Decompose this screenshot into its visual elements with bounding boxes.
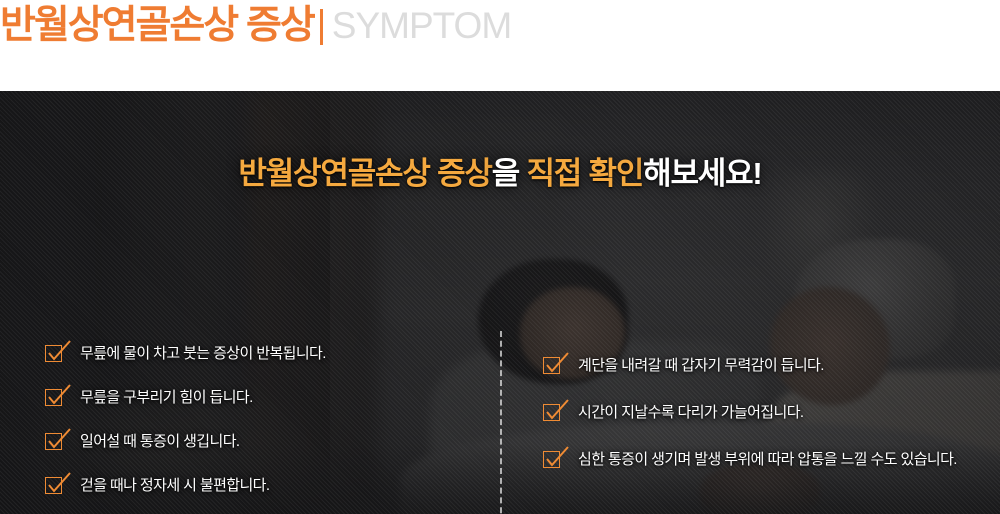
symptom-item-label: 무릎을 구부리기 힘이 듭니다.	[80, 387, 253, 408]
page-title: 반월상연골손상 증상	[0, 3, 314, 49]
hero-headline: 반월상연골손상 증상을 직접 확인해보세요!	[0, 148, 1000, 193]
symptom-item: 일어설 때 통증이 생깁니다.	[45, 431, 475, 452]
check-icon	[45, 477, 62, 494]
page-subtitle: SYMPTOM	[332, 3, 511, 49]
hero-banner: 반월상연골손상 증상을 직접 확인해보세요! 무릎에 물이 차고 붓는 증상이 …	[0, 91, 1000, 514]
symptom-item: 시간이 지날수록 다리가 가늘어집니다.	[543, 402, 963, 423]
header-title-group: 반월상연골손상 증상 SYMPTOM	[0, 3, 511, 49]
check-icon	[45, 345, 62, 362]
symptom-list-left: 무릎에 물이 차고 붓는 증상이 반복됩니다. 무릎을 구부리기 힘이 듭니다.…	[45, 343, 475, 514]
symptom-item: 무릎을 구부리기 힘이 듭니다.	[45, 387, 475, 408]
headline-part-3: 직접 확인	[526, 156, 643, 191]
symptom-item-label: 무릎에 물이 차고 붓는 증상이 반복됩니다.	[80, 343, 326, 364]
hero-content: 반월상연골손상 증상을 직접 확인해보세요! 무릎에 물이 차고 붓는 증상이 …	[0, 91, 1000, 514]
symptom-item: 계단을 내려갈 때 갑자기 무력감이 듭니다.	[543, 355, 963, 376]
page-root: 반월상연골손상 증상 SYMPTOM	[0, 0, 1000, 514]
symptom-item-label: 시간이 지날수록 다리가 가늘어집니다.	[578, 402, 803, 423]
symptom-item-label: 걷을 때나 정자세 시 불편합니다.	[80, 475, 269, 496]
symptom-item-label: 일어설 때 통증이 생깁니다.	[80, 431, 239, 452]
symptom-item-label: 계단을 내려갈 때 갑자기 무력감이 듭니다.	[578, 355, 824, 376]
symptom-list-right: 계단을 내려갈 때 갑자기 무력감이 듭니다. 시간이 지날수록 다리가 가늘어…	[543, 355, 963, 496]
headline-part-4: 해보세요!	[643, 156, 761, 191]
symptom-item: 심한 통증이 생기며 발생 부위에 따라 압통을 느낄 수도 있습니다.	[543, 449, 963, 470]
symptom-item: 걷을 때나 정자세 시 불편합니다.	[45, 475, 475, 496]
headline-part-1: 반월상연골손상 증상	[238, 156, 491, 191]
check-icon	[45, 389, 62, 406]
symptom-item-label: 심한 통증이 생기며 발생 부위에 따라 압통을 느낄 수도 있습니다.	[578, 449, 957, 470]
column-divider	[500, 331, 502, 514]
check-icon	[45, 433, 62, 450]
symptom-item: 무릎에 물이 차고 붓는 증상이 반복됩니다.	[45, 343, 475, 364]
headline-part-2: 을	[492, 156, 527, 191]
page-header: 반월상연골손상 증상 SYMPTOM	[0, 0, 1000, 91]
check-icon	[543, 357, 560, 374]
title-divider	[320, 9, 323, 45]
check-icon	[543, 451, 560, 468]
check-icon	[543, 404, 560, 421]
